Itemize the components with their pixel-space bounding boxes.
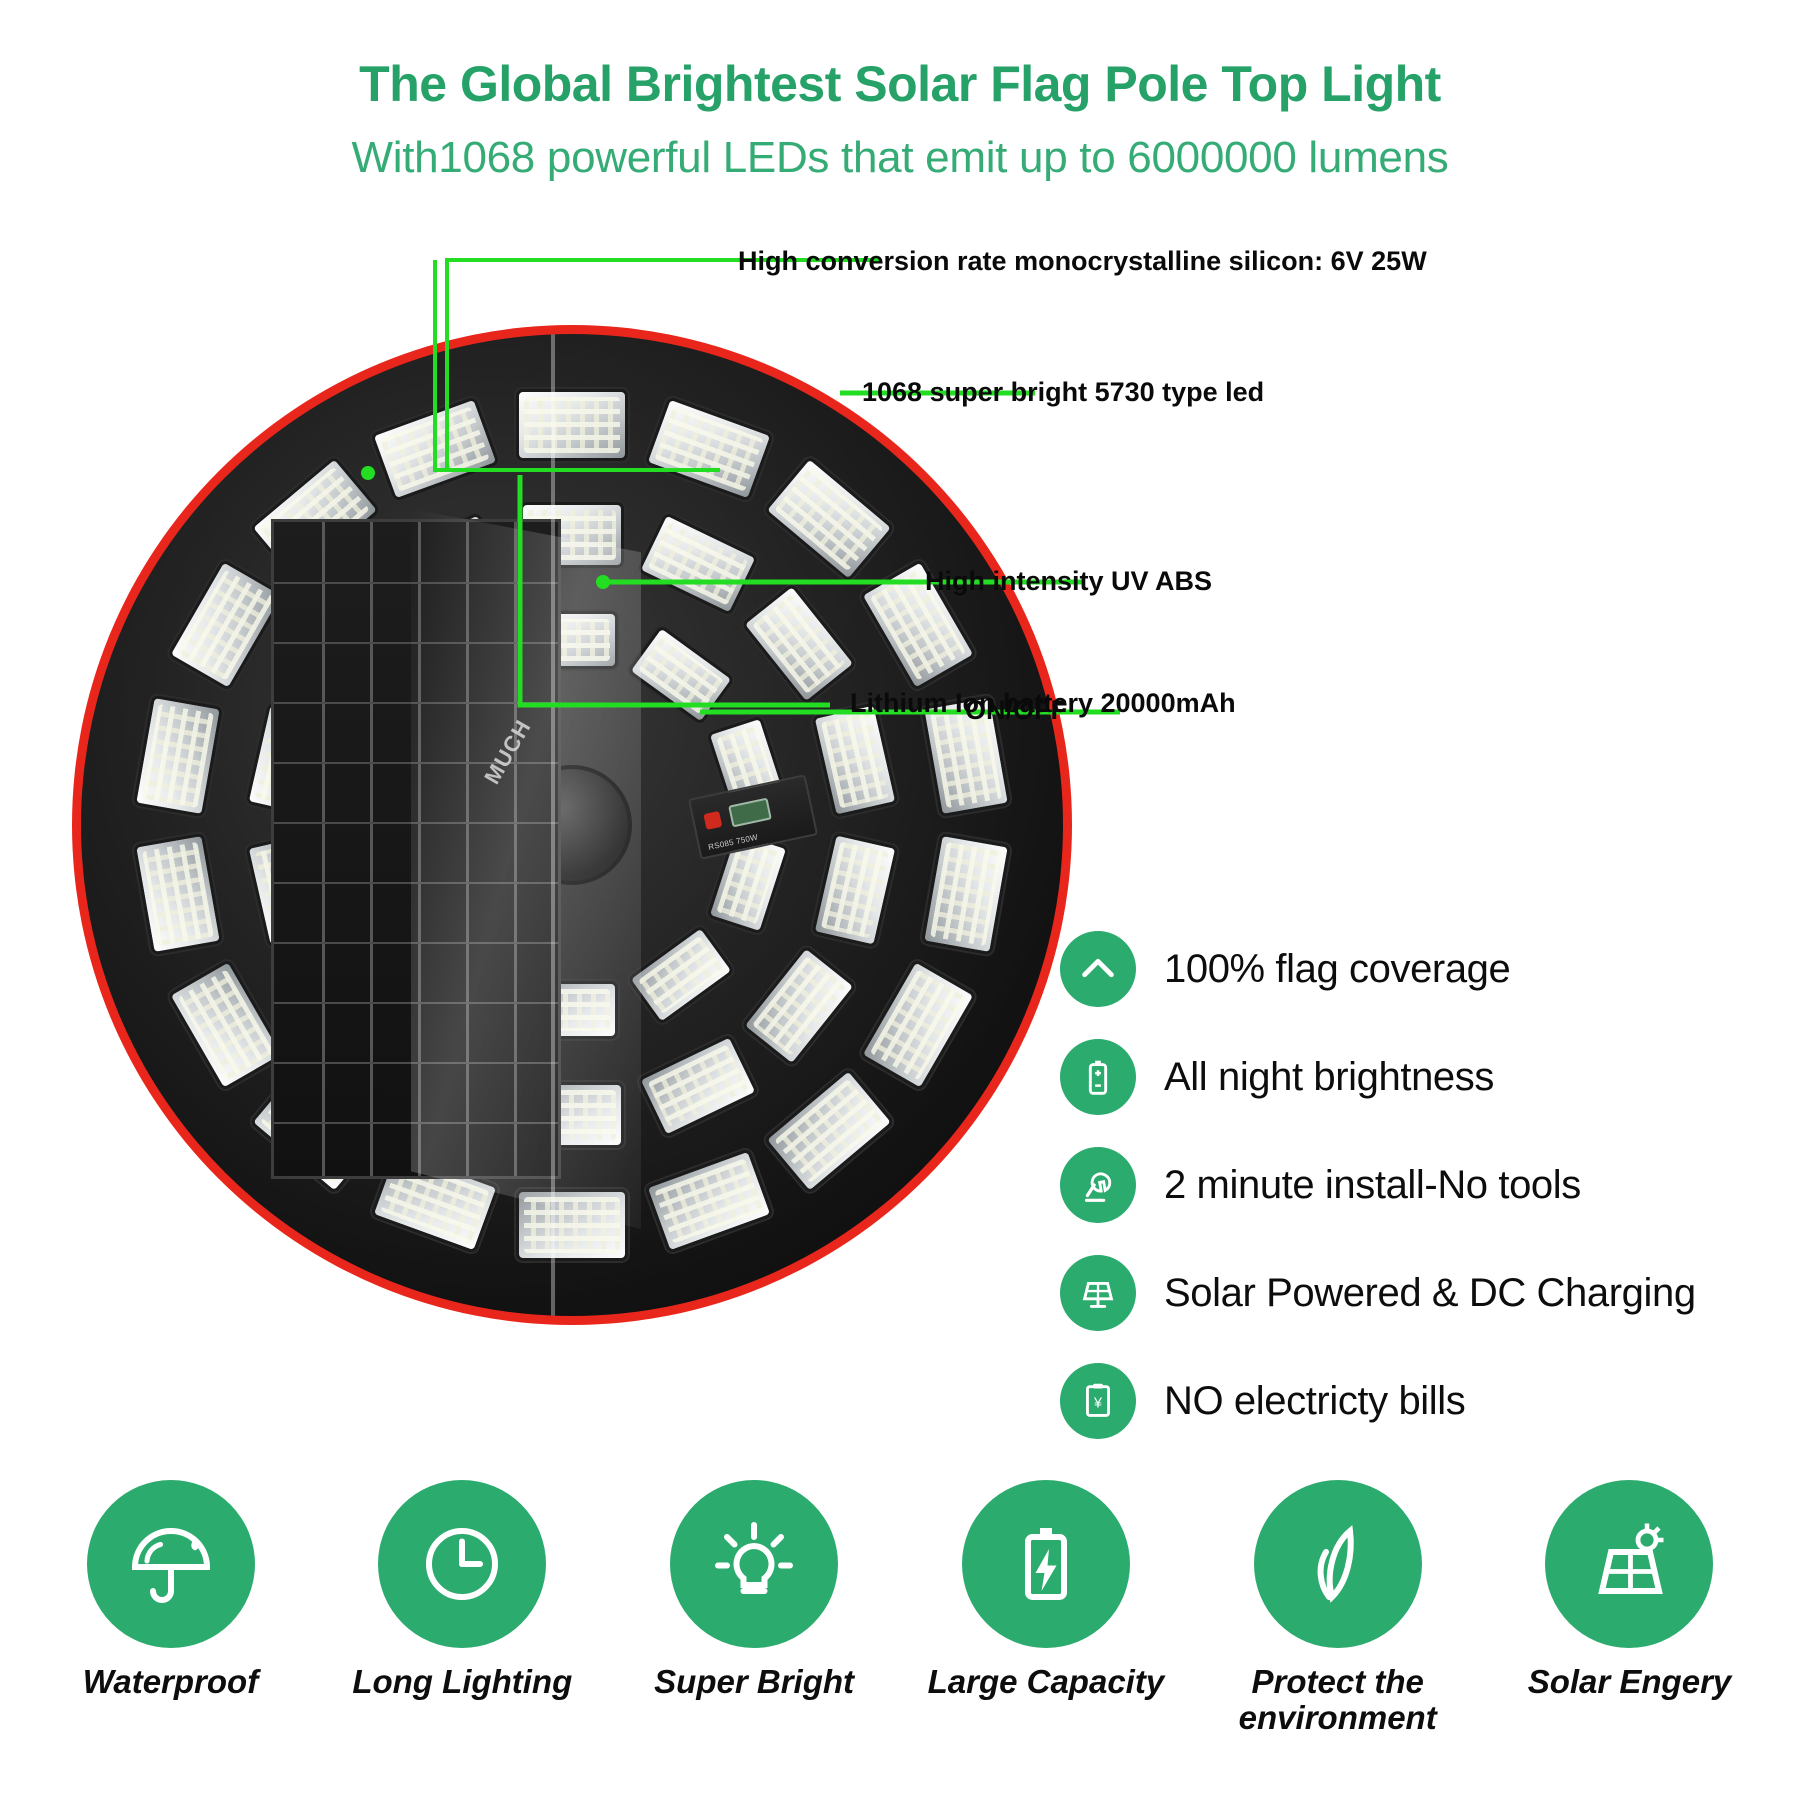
benefit-item-waterproof[interactable]: Waterproof xyxy=(28,1480,313,1800)
panel-busbar xyxy=(466,522,469,1176)
switch-label: RS085 750W xyxy=(707,833,758,852)
benefit-label: Super Bright xyxy=(612,1664,897,1700)
feature-label: 100% flag coverage xyxy=(1164,947,1510,992)
battery-icon xyxy=(1060,1039,1136,1115)
feature-item-no-bills[interactable]: ¥ NO electricty bills xyxy=(1060,1347,1800,1455)
lamp-body: MUCH RS085 750W xyxy=(81,334,1063,1316)
feature-label: Solar Powered & DC Charging xyxy=(1164,1271,1696,1316)
solar-panel-icon xyxy=(1060,1255,1136,1331)
wrench-icon xyxy=(1060,1147,1136,1223)
callout-label-solar-panel: High conversion rate monocrystalline sil… xyxy=(738,246,1427,277)
benefit-item-super-bright[interactable]: Super Bright xyxy=(612,1480,897,1800)
feature-label: All night brightness xyxy=(1164,1055,1494,1100)
bulb-icon xyxy=(670,1480,838,1648)
benefit-label: Long Lighting xyxy=(320,1664,605,1700)
led-panel xyxy=(626,625,735,726)
battery-charging-icon xyxy=(962,1480,1130,1648)
panel-cell-divider xyxy=(274,882,558,884)
umbrella-icon xyxy=(87,1480,255,1648)
svg-text:¥: ¥ xyxy=(1093,1396,1102,1412)
panel-cell-divider xyxy=(274,702,558,704)
panel-busbar xyxy=(370,522,373,1176)
cutaway-divider xyxy=(551,334,555,1316)
panel-cell-divider xyxy=(274,1062,558,1064)
solar-energy-icon xyxy=(1545,1480,1713,1648)
panel-cell-divider xyxy=(274,1122,558,1124)
benefit-item-large-capacity[interactable]: Large Capacity xyxy=(903,1480,1188,1800)
leaf-icon xyxy=(1254,1480,1422,1648)
clock-icon xyxy=(378,1480,546,1648)
page-subtitle: With1068 powerful LEDs that emit up to 6… xyxy=(0,133,1800,183)
panel-cell-divider xyxy=(274,1002,558,1004)
no-bills-icon: ¥ xyxy=(1060,1363,1136,1439)
switch-indicator xyxy=(703,811,722,830)
panel-cell-divider xyxy=(274,822,558,824)
benefit-label: Waterproof xyxy=(28,1664,313,1700)
feature-label: NO electricty bills xyxy=(1164,1379,1465,1424)
panel-busbar xyxy=(322,522,325,1176)
callout-label-leds: 1068 super bright 5730 type led xyxy=(862,377,1264,408)
switch-toggle[interactable] xyxy=(728,798,772,828)
benefit-label: Protect the environment xyxy=(1195,1664,1480,1737)
feature-label: 2 minute install-No tools xyxy=(1164,1163,1581,1208)
panel-busbar xyxy=(514,522,517,1176)
panel-cell-divider xyxy=(274,642,558,644)
product-image: MUCH RS085 750W xyxy=(72,325,1072,1325)
benefit-item-solar-energy[interactable]: Solar Engery xyxy=(1487,1480,1772,1800)
feature-item-solar-powered[interactable]: Solar Powered & DC Charging xyxy=(1060,1239,1800,1347)
benefit-item-environment[interactable]: Protect the environment xyxy=(1195,1480,1480,1800)
benefit-item-long-lighting[interactable]: Long Lighting xyxy=(320,1480,605,1800)
feature-list: 100% flag coverage All night brightness … xyxy=(1060,915,1800,1455)
feature-item-all-night[interactable]: All night brightness xyxy=(1060,1023,1800,1131)
callout-label-housing: High intensity UV ABS xyxy=(925,566,1212,597)
feature-item-install[interactable]: 2 minute install-No tools xyxy=(1060,1131,1800,1239)
feature-item-flag-coverage[interactable]: 100% flag coverage xyxy=(1060,915,1800,1023)
benefit-label: Large Capacity xyxy=(903,1664,1188,1700)
led-panel xyxy=(626,924,735,1025)
page-title: The Global Brightest Solar Flag Pole Top… xyxy=(0,58,1800,111)
panel-cell-divider xyxy=(274,942,558,944)
panel-busbar xyxy=(418,522,421,1176)
panel-cell-divider xyxy=(274,582,558,584)
benefit-label: Solar Engery xyxy=(1487,1664,1772,1700)
chevron-up-icon xyxy=(1060,931,1136,1007)
callout-label-switch: ON/OFF xyxy=(965,695,1067,726)
solar-panel-cutaway xyxy=(271,519,561,1179)
header: The Global Brightest Solar Flag Pole Top… xyxy=(0,0,1800,183)
benefit-row: Waterproof Long Lighting Super Bright xyxy=(0,1480,1800,1800)
